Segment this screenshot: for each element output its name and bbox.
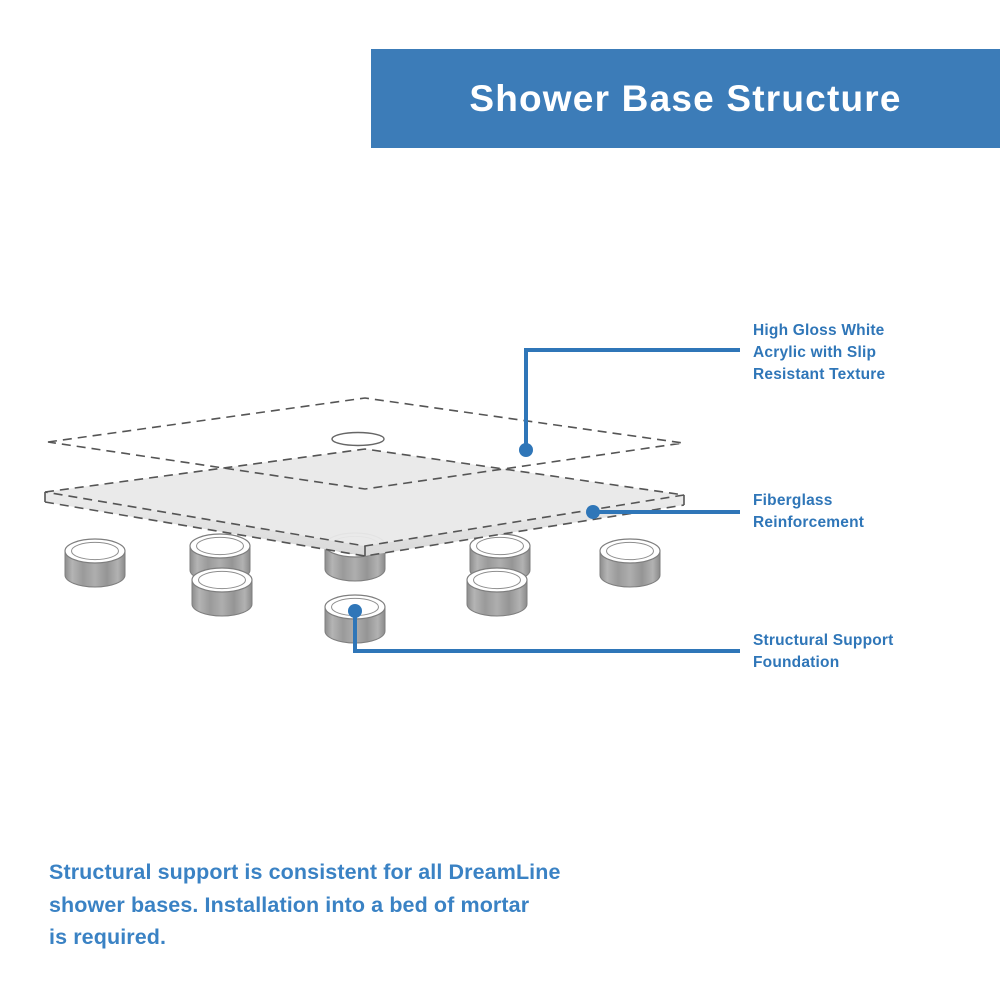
drain-ellipse [332,433,384,446]
page-root: Shower Base Structure [0,0,1000,1000]
leader-dot-fiberglass [586,505,600,519]
leader-line-support [355,611,740,651]
callout-label-fiberglass: Fiberglass Reinforcement [753,490,953,534]
leader-line-acrylic [526,350,740,450]
support-ring [467,568,527,616]
support-ring [192,568,252,616]
fiberglass-slab [45,449,684,556]
footer-caption: Structural support is consistent for all… [49,856,689,954]
support-ring [65,539,125,587]
support-ring [600,539,660,587]
leader-dot-support [348,604,362,618]
callout-label-support: Structural Support Foundation [753,630,953,674]
leader-dot-acrylic [519,443,533,457]
callout-label-acrylic: High Gloss White Acrylic with Slip Resis… [753,320,953,386]
